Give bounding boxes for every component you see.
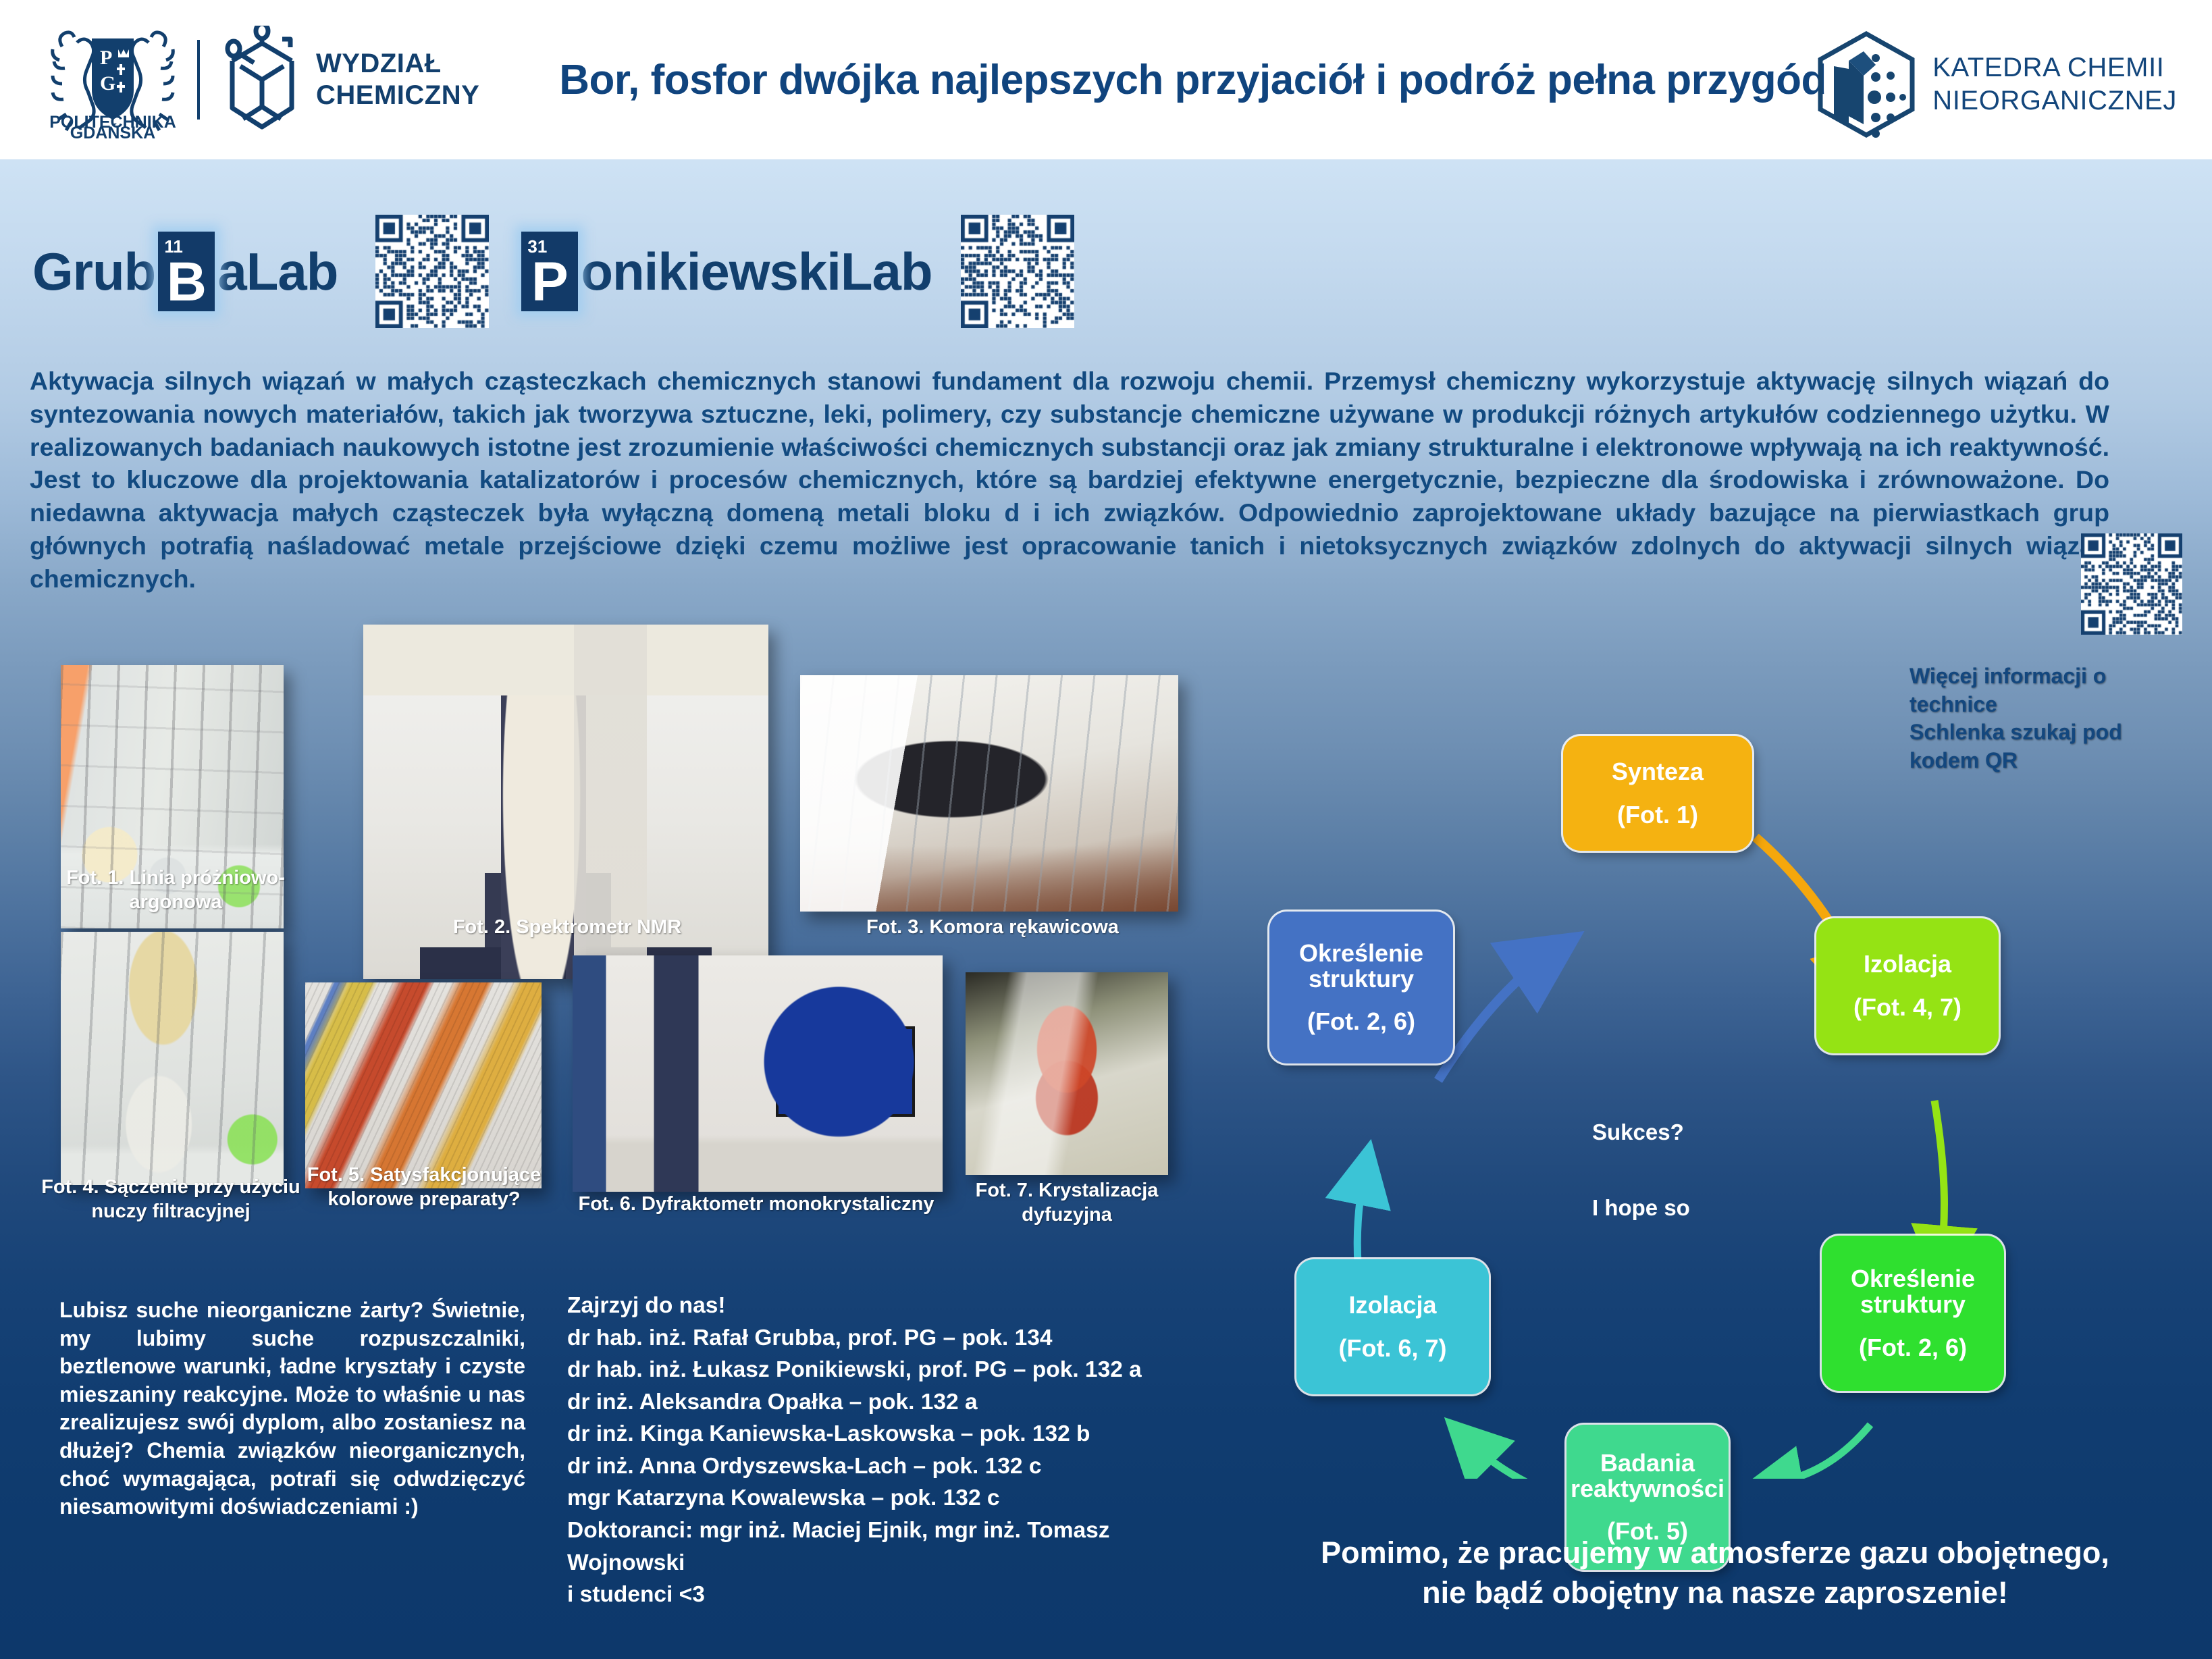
photo-fot3 [800, 675, 1178, 912]
invitation-joke-text: Lubisz suche nieorganiczne żarty? Świetn… [59, 1296, 525, 1521]
element-symbol: P [531, 256, 569, 311]
qr-code-grubba[interactable] [375, 215, 489, 328]
faculty-line1: WYDZIAŁ [316, 48, 479, 80]
crest-university-line2: GDAŃSKA [70, 123, 155, 140]
element-number: 31 [527, 236, 547, 257]
lab-brand-row: Grub 11 B aLab 31 P onikiewskiLab [32, 215, 1074, 328]
flow-node-synteza-label: Synteza [1612, 759, 1704, 785]
photo-fot5 [305, 982, 542, 1188]
politechnika-gdanska-crest-icon: P G POLITECHNIKA GDAŃSKA [42, 20, 184, 140]
contacts-heading: Zajrzyj do nas! [567, 1290, 1188, 1322]
flow-node-struktura-1-sub: (Fot. 2, 6) [1307, 1009, 1415, 1034]
flow-node-izolacja-1-label: Izolacja [1864, 951, 1951, 977]
element-tile-boron: 11 B [158, 232, 215, 311]
caption-fot4-line2: nuczy filtracyjnej [39, 1199, 302, 1223]
lab-ponikiewski-suffix: onikiewskiLab [581, 241, 932, 302]
abstract-paragraph: Aktywacja silnych wiązań w małych cząste… [30, 365, 2109, 595]
poster-header: P G POLITECHNIKA GDAŃSKA [0, 0, 2212, 159]
contact-phd-students: Doktoranci: mgr inż. Maciej Ejnik, mgr i… [567, 1515, 1188, 1579]
caption-fot5-line1: Fot. 5. Satysfakcjonujące [302, 1163, 546, 1187]
svg-text:P: P [100, 47, 112, 69]
department-logo-text: KATEDRA CHEMII NIEORGANICZNEJ [1932, 51, 2177, 117]
faculty-line2: CHEMICZNY [316, 80, 479, 111]
slogan-line1: Pomimo, że pracujemy w atmosferze gazu o… [1236, 1533, 2194, 1573]
caption-fot7-line2: dyfuzyjna [945, 1203, 1188, 1227]
lab-ponikiewski: 31 P onikiewskiLab [519, 232, 932, 311]
contact-person: dr inż. Aleksandra Opałka – pok. 132 a [567, 1386, 1188, 1419]
page-title: Bor, fosfor dwójka najlepszych przyjació… [559, 56, 1826, 104]
flow-node-izolacja-2-sub: (Fot. 6, 7) [1339, 1336, 1447, 1361]
header-logos-left: P G POLITECHNIKA GDAŃSKA [0, 20, 479, 140]
contacts-block: Zajrzyj do nas! dr hab. inż. Rafał Grubb… [567, 1290, 1188, 1611]
closing-slogan: Pomimo, że pracujemy w atmosferze gazu o… [1236, 1533, 2194, 1613]
caption-fot5-line2: kolorowe preparaty? [302, 1187, 546, 1211]
molecule-shield-icon [223, 26, 301, 134]
photo-fot4 [61, 932, 284, 1185]
header-logo-right: KATEDRA CHEMII NIEORGANICZNEJ [1816, 31, 2177, 138]
caption-fot1: Fot. 1. Linia próżniowo-argonowa [41, 866, 311, 915]
flow-node-synteza-sub: (Fot. 1) [1617, 802, 1698, 828]
contact-person: dr hab. inż. Łukasz Ponikiewski, prof. P… [567, 1354, 1188, 1386]
lab-grubba-prefix: Grub [32, 241, 155, 302]
photo-fot6 [573, 955, 943, 1192]
poster-canvas: P G POLITECHNIKA GDAŃSKA [0, 0, 2212, 1659]
lab-grubba-suffix: aLab [217, 241, 338, 302]
flow-label-sukces: Sukces? [1592, 1120, 1684, 1145]
contact-students: i studenci <3 [567, 1579, 1188, 1611]
schlenk-caption-line1: Więcej informacji o technice [1910, 662, 2182, 718]
caption-fot4-line1: Fot. 4. Sączenie przy użyciu [39, 1175, 302, 1199]
department-line2: NIEORGANICZNEJ [1932, 84, 2177, 117]
photo-fot7 [966, 972, 1168, 1175]
svg-text:G: G [100, 72, 115, 95]
qr-code-ponikiewski[interactable] [961, 215, 1074, 328]
flow-node-badania-label: Badania reaktywności [1566, 1450, 1729, 1502]
workflow-cycle-diagram: Synteza (Fot. 1) Izolacja (Fot. 4, 7) Ok… [1269, 749, 2188, 1479]
flow-label-ihopeso: I hope so [1592, 1195, 1690, 1221]
caption-fot3: Fot. 3. Komora rękawicowa [817, 915, 1168, 939]
department-line1: KATEDRA CHEMII [1932, 51, 2177, 84]
faculty-logo: WYDZIAŁ CHEMICZNY [223, 26, 479, 134]
caption-fot2: Fot. 2. Spektrometr NMR [405, 915, 729, 939]
contact-person: dr hab. inż. Rafał Grubba, prof. PG – po… [567, 1322, 1188, 1354]
contact-person: dr inż. Anna Ordyszewska-Lach – pok. 132… [567, 1450, 1188, 1483]
flow-node-struktura-2-label: Określenie struktury [1822, 1266, 2004, 1317]
flow-node-struktura-2-sub: (Fot. 2, 6) [1859, 1335, 1967, 1361]
element-tile-phosphorus: 31 P [521, 232, 578, 311]
element-symbol: B [167, 256, 207, 311]
header-divider [197, 40, 200, 120]
department-hexagon-icon [1816, 31, 1916, 138]
flow-node-synteza[interactable]: Synteza (Fot. 1) [1563, 736, 1752, 851]
flow-node-izolacja-1[interactable]: Izolacja (Fot. 4, 7) [1816, 918, 1999, 1053]
schlenk-qr-block: Więcej informacji o technice Schlenka sz… [1899, 533, 2182, 638]
contact-person: mgr Katarzyna Kowalewska – pok. 132 c [567, 1482, 1188, 1515]
flow-node-struktura-2[interactable]: Określenie struktury (Fot. 2, 6) [1822, 1236, 2004, 1391]
element-number: 11 [164, 236, 183, 257]
flow-node-izolacja-1-sub: (Fot. 4, 7) [1853, 995, 1961, 1020]
caption-fot7: Fot. 7. Krystalizacja dyfuzyjna [945, 1178, 1188, 1228]
qr-code-schlenk[interactable] [2081, 533, 2182, 635]
faculty-logo-text: WYDZIAŁ CHEMICZNY [316, 48, 479, 111]
caption-fot4: Fot. 4. Sączenie przy użyciu nuczy filtr… [39, 1175, 302, 1224]
flow-node-struktura-1[interactable]: Określenie struktury (Fot. 2, 6) [1269, 912, 1453, 1063]
caption-fot7-line1: Fot. 7. Krystalizacja [945, 1178, 1188, 1203]
flow-node-izolacja-2[interactable]: Izolacja (Fot. 6, 7) [1296, 1259, 1489, 1394]
lab-grubba: Grub 11 B aLab [32, 232, 338, 311]
flow-node-izolacja-2-label: Izolacja [1348, 1292, 1436, 1318]
contact-person: dr inż. Kinga Kaniewska-Laskowska – pok.… [567, 1418, 1188, 1450]
caption-fot6: Fot. 6. Dyfraktometr monokrystaliczny [567, 1192, 945, 1216]
flow-node-struktura-1-label: Określenie struktury [1269, 941, 1453, 992]
slogan-line2: nie bądź obojętny na nasze zaproszenie! [1236, 1573, 2194, 1612]
caption-fot5: Fot. 5. Satysfakcjonujące kolorowe prepa… [302, 1163, 546, 1212]
